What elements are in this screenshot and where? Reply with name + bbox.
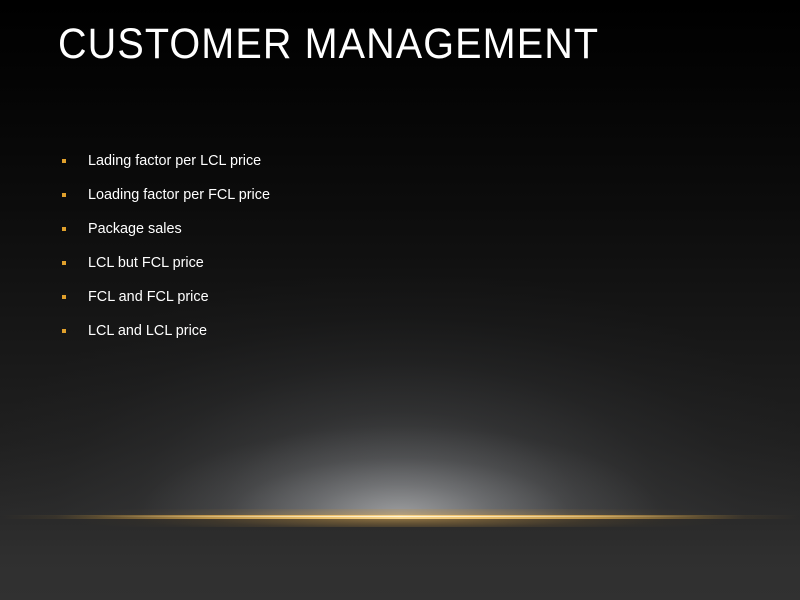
presentation-slide: Customer Management Lading factor per LC… bbox=[0, 0, 800, 600]
bullet-dot-icon bbox=[62, 261, 66, 265]
list-item-label: Loading factor per FCL price bbox=[88, 178, 270, 212]
list-item: FCL and FCL price bbox=[58, 280, 748, 314]
list-item-label: LCL and LCL price bbox=[88, 314, 207, 348]
bullet-dot-icon bbox=[62, 159, 66, 163]
list-item: LCL and LCL price bbox=[58, 314, 748, 348]
list-item-label: FCL and FCL price bbox=[88, 280, 209, 314]
bullet-list: Lading factor per LCL price Loading fact… bbox=[58, 144, 748, 348]
bullet-dot-icon bbox=[62, 227, 66, 231]
list-item: Lading factor per LCL price bbox=[58, 144, 748, 178]
list-item: Package sales bbox=[58, 212, 748, 246]
list-item: LCL but FCL price bbox=[58, 246, 748, 280]
list-item-label: LCL but FCL price bbox=[88, 246, 204, 280]
bullet-dot-icon bbox=[62, 295, 66, 299]
bullet-dot-icon bbox=[62, 329, 66, 333]
list-item-label: Lading factor per LCL price bbox=[88, 144, 261, 178]
list-item: Loading factor per FCL price bbox=[58, 178, 748, 212]
slide-title: Customer Management bbox=[58, 16, 702, 72]
list-item-label: Package sales bbox=[88, 212, 182, 246]
bullet-dot-icon bbox=[62, 193, 66, 197]
